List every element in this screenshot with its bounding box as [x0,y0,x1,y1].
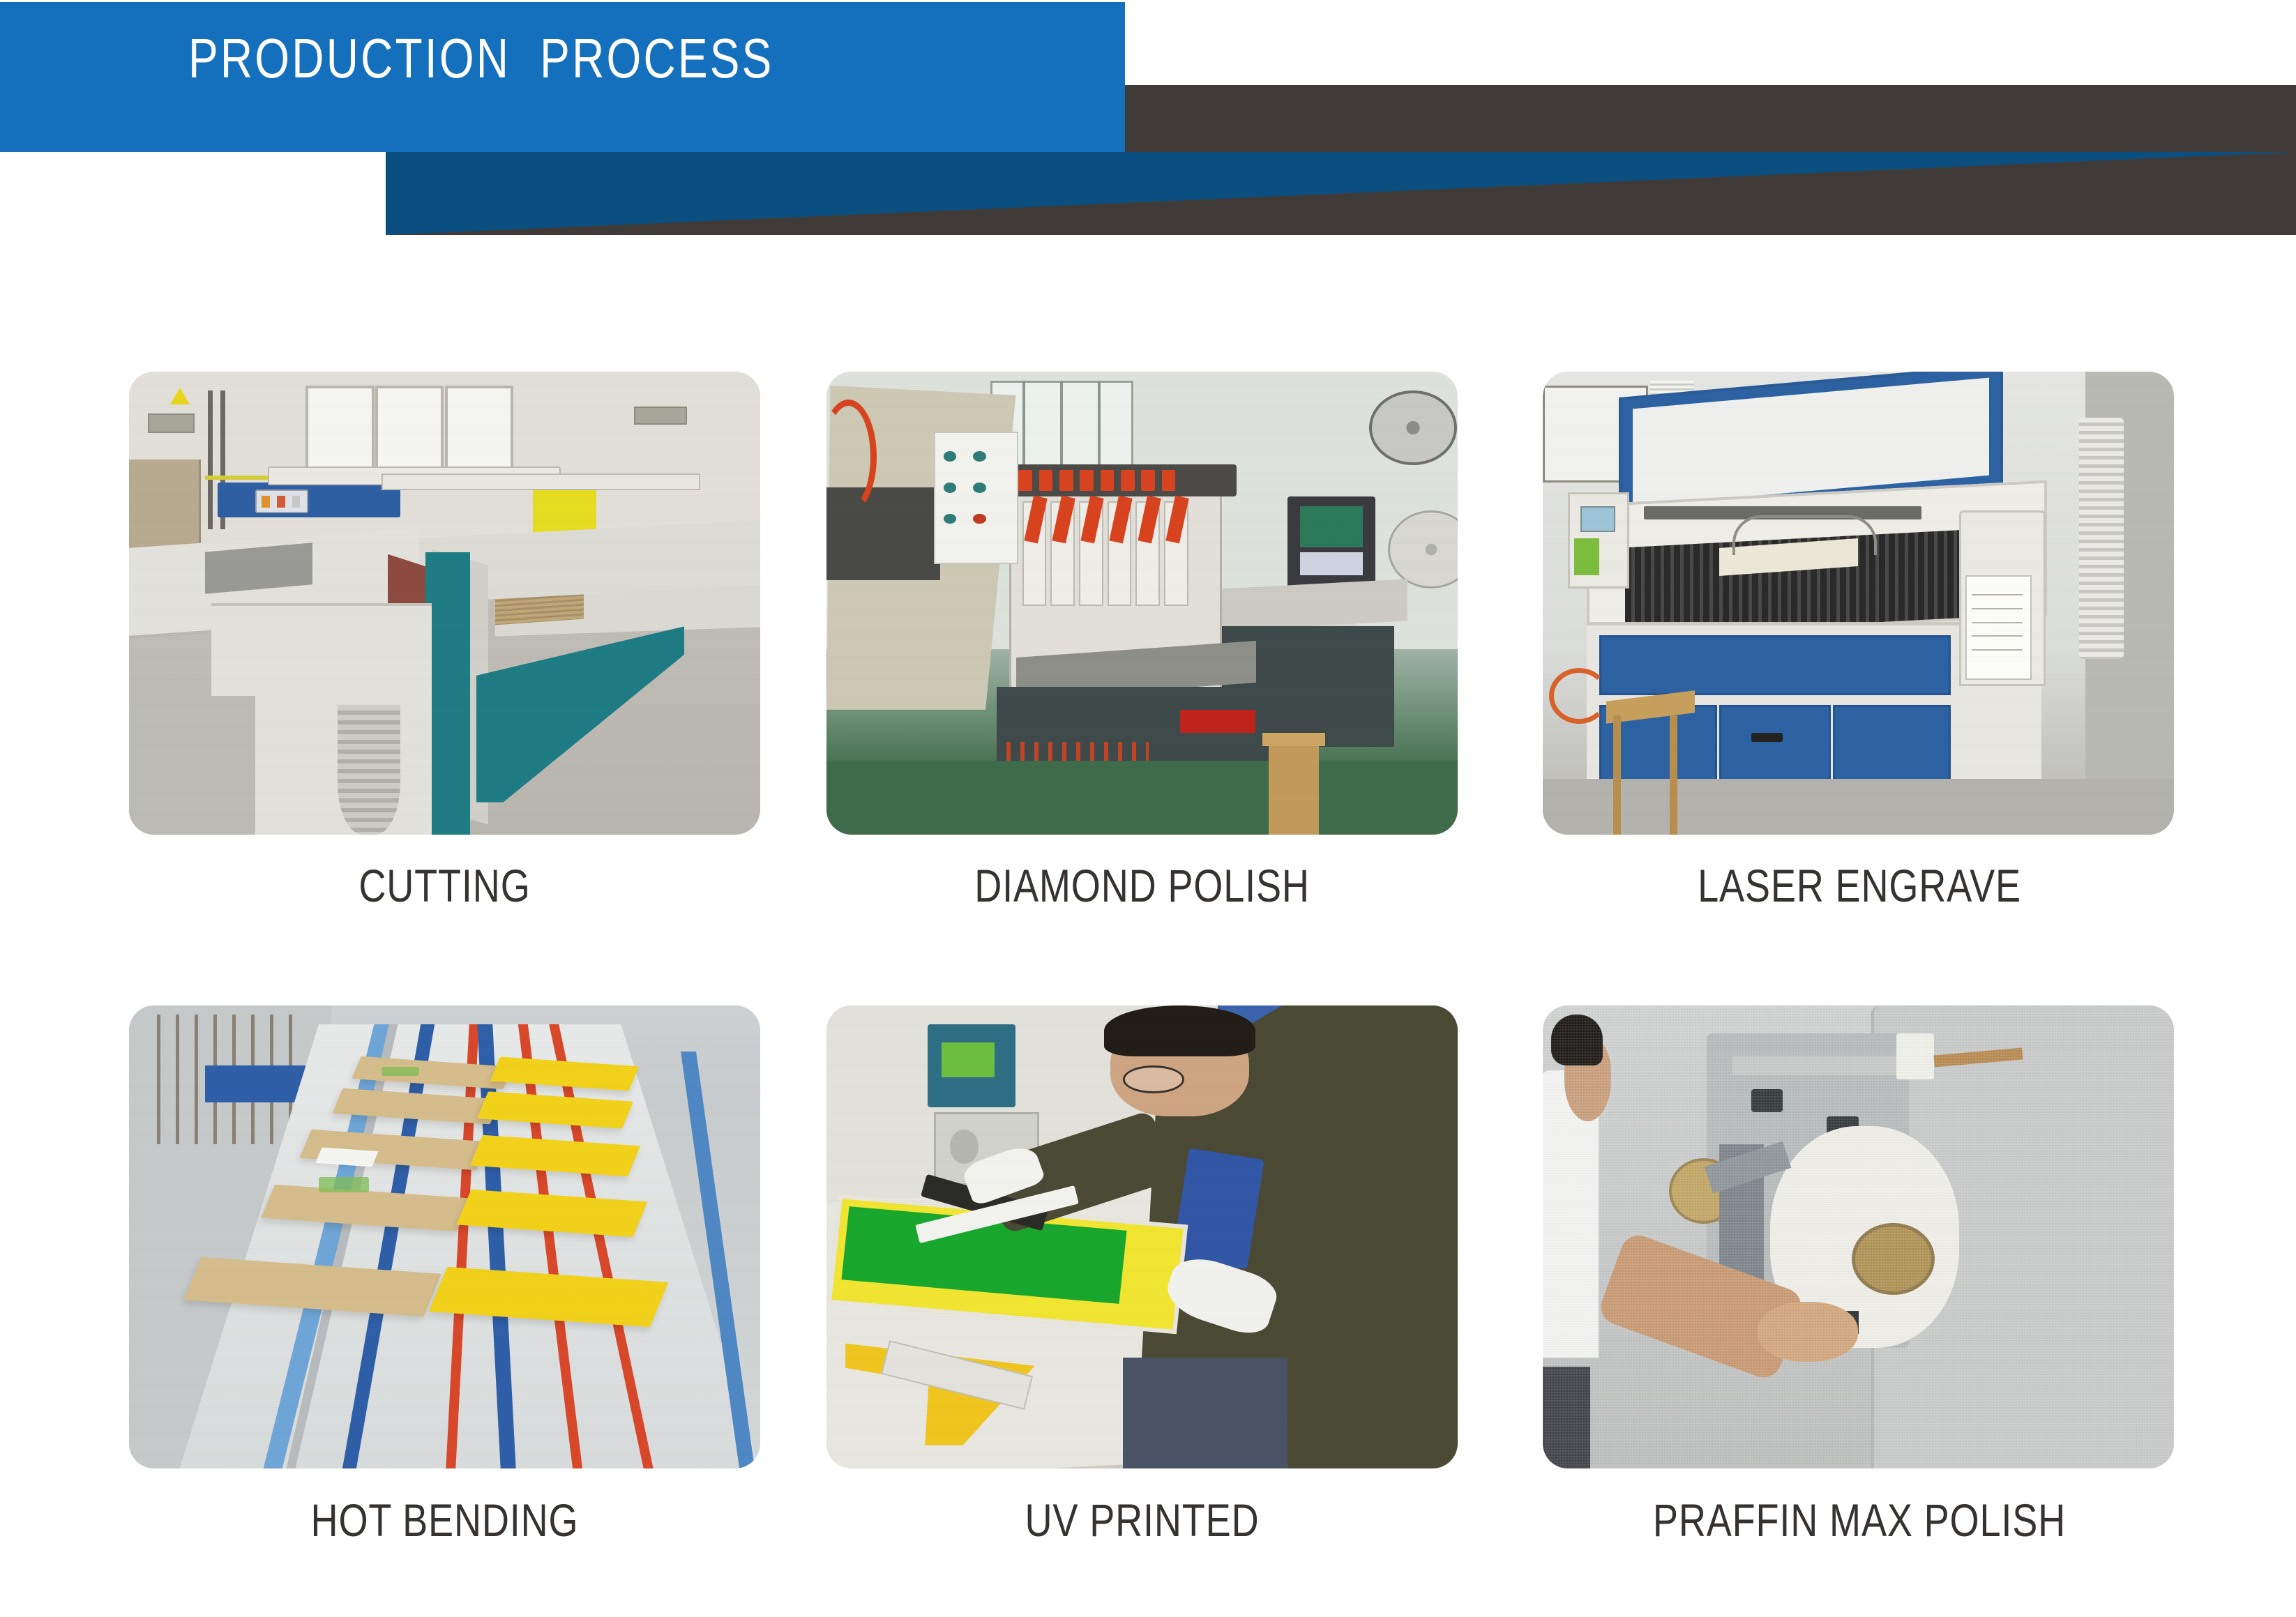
uv-printed-photo [826,1005,1458,1468]
production-process-grid: CUTTING [0,0,2296,1617]
laser-engrave-caption: LASER ENGRAVE [1585,859,2133,912]
cutting-photo-card[interactable] [129,372,760,835]
wooden-stool [1269,733,1319,835]
uv-printed-photo-card[interactable] [826,1005,1458,1468]
praffin-max-polish-caption: PRAFFIN MAX POLISH [1585,1494,2133,1547]
cutting-caption: CUTTING [186,859,703,912]
drawer-handle-icon [1751,733,1783,742]
diamond-polish-caption: DIAMOND POLISH [883,859,1400,912]
praffin-max-polish-photo [1543,1005,2174,1468]
hot-bending-photo [129,1005,760,1468]
eyeglasses-icon [1123,1065,1184,1093]
hot-bending-photo-card[interactable] [129,1005,760,1468]
praffin-max-polish-photo-card[interactable] [1543,1005,2174,1468]
cutting-photo [129,372,760,835]
laser-engrave-photo [1543,372,2174,835]
diamond-polish-photo [826,372,1458,835]
uv-printed-caption: UV PRINTED [883,1494,1400,1547]
laser-engrave-photo-card[interactable] [1543,372,2174,835]
diamond-polish-photo-card[interactable] [826,372,1458,835]
wall-fan-icon [1369,390,1457,466]
warning-triangle-icon [170,388,190,404]
hot-bending-caption: HOT BENDING [186,1494,703,1547]
wooden-stool [1606,696,1695,835]
